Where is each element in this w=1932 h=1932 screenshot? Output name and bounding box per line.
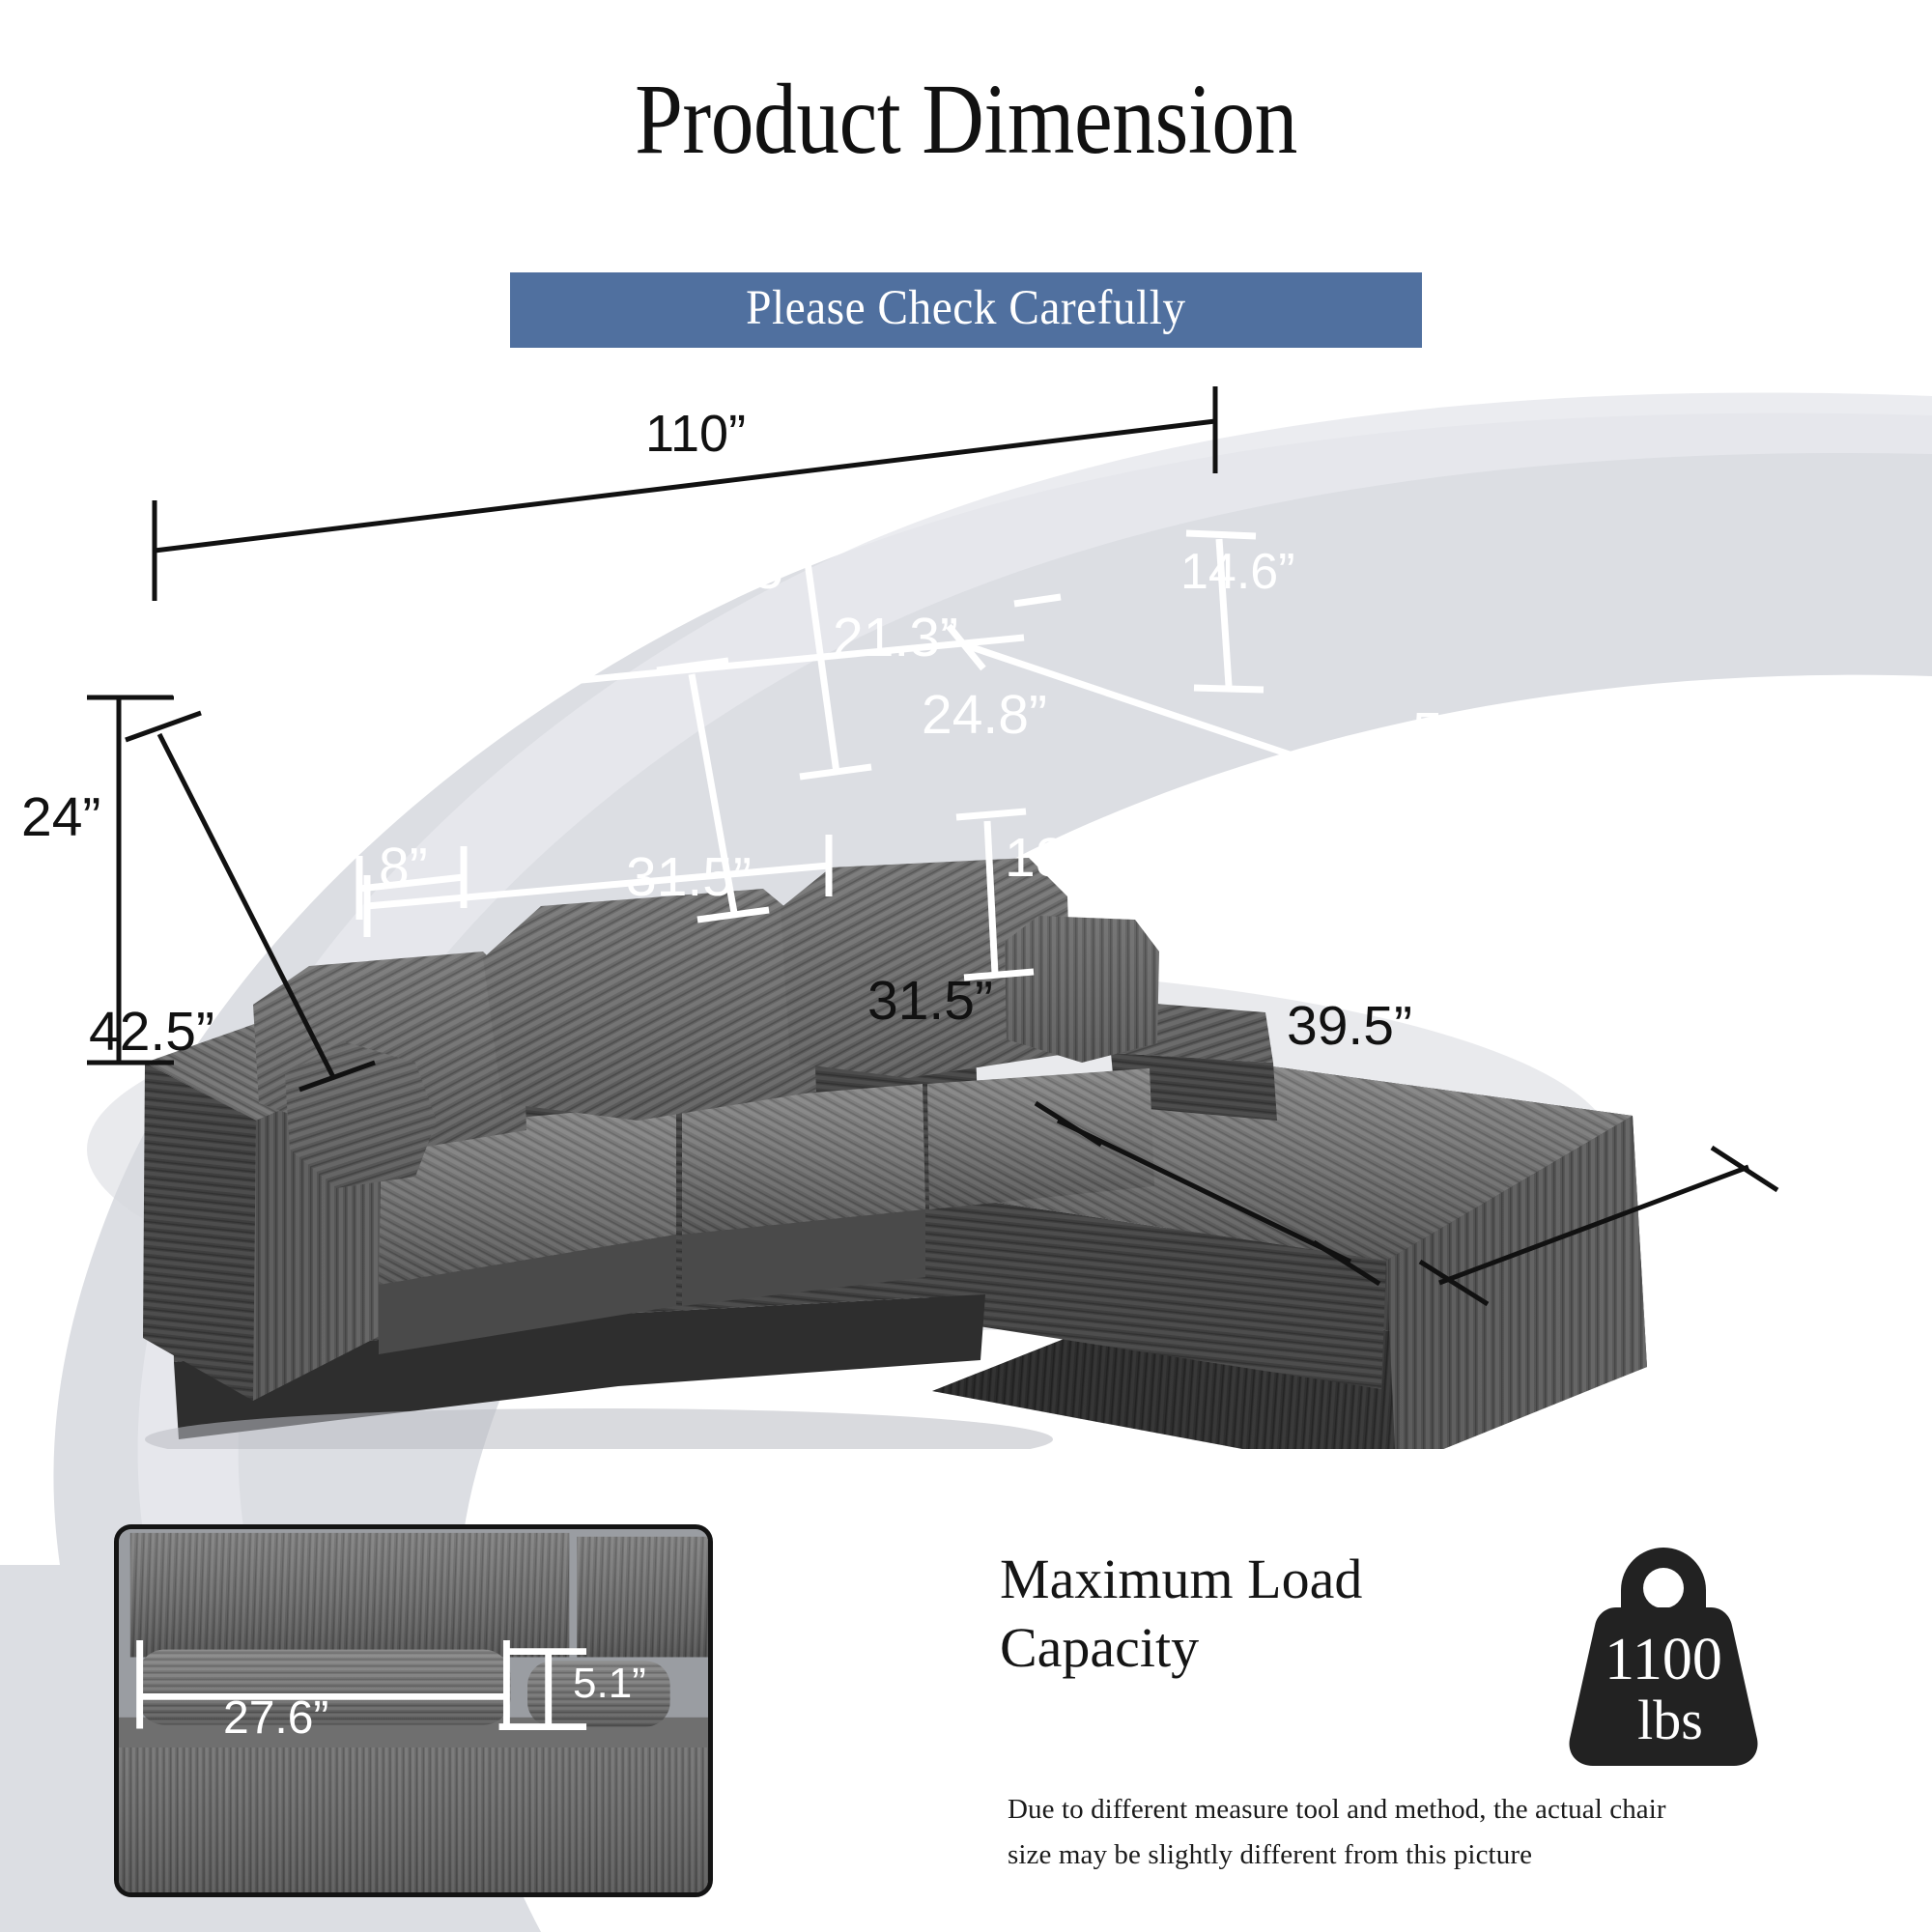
dimension-label-back-cushion-height: 21.3” (833, 611, 958, 666)
dimension-label-arm-thickness: 8” (379, 840, 428, 895)
subtitle-text: Please Check Carefully (746, 284, 1185, 337)
dimension-label-seat-depth: 24.8” (922, 688, 1047, 743)
dimension-label-overall-height: 24” (21, 790, 100, 845)
bolster-detail-artwork (119, 1529, 708, 1892)
weight-icon: 1100 lbs (1552, 1534, 1775, 1776)
weight-unit-text: lbs (1637, 1689, 1703, 1751)
weight-value-text: 1100 (1605, 1627, 1722, 1692)
load-capacity-title: Maximum Load Capacity (1000, 1546, 1483, 1683)
dimension-label-seat-width: 31.5” (626, 850, 752, 905)
dimension-label-chaise-length: 56.3” (1412, 705, 1538, 760)
disclaimer-text: Due to different measure tool and method… (1008, 1787, 1838, 1878)
subtitle-banner: Please Check Carefully (510, 272, 1422, 348)
page-title: Product Dimension (135, 66, 1797, 174)
dimension-label-overall-width: 110” (645, 408, 746, 460)
dimension-label-overall-depth: 42.5” (89, 1005, 214, 1060)
product-illustration: 110” 31.5” 21.3” 14.6” 11.1” 24” 24.8” 5… (0, 386, 1932, 1449)
load-capacity-block: Maximum Load Capacity 1100 lbs Due to di… (1000, 1546, 1850, 1893)
inset-label-bolster-width: 27.6” (223, 1695, 328, 1742)
disclaimer-line-2: size may be slightly different from this… (1008, 1833, 1838, 1878)
dimension-label-seat-height: 18.1” (1005, 831, 1130, 886)
dimension-label-chaise-width: 39.5” (1287, 999, 1412, 1054)
dimension-label-throw-pillow: 14.6” (1180, 547, 1295, 597)
dimension-label-arm-width: 11.1” (224, 667, 328, 714)
inset-label-bolster-height: 5.1” (573, 1662, 646, 1705)
header: Product Dimension Please Check Carefully (0, 0, 1932, 328)
bolster-detail-inset: 27.6” 5.1” (114, 1524, 713, 1897)
disclaimer-line-1: Due to different measure tool and method… (1008, 1787, 1838, 1833)
dimension-label-chaise-gap: 31.5” (867, 974, 993, 1029)
dimension-lines (0, 386, 1932, 1449)
dimension-label-back-cushion-width: 31.5” (676, 543, 802, 598)
